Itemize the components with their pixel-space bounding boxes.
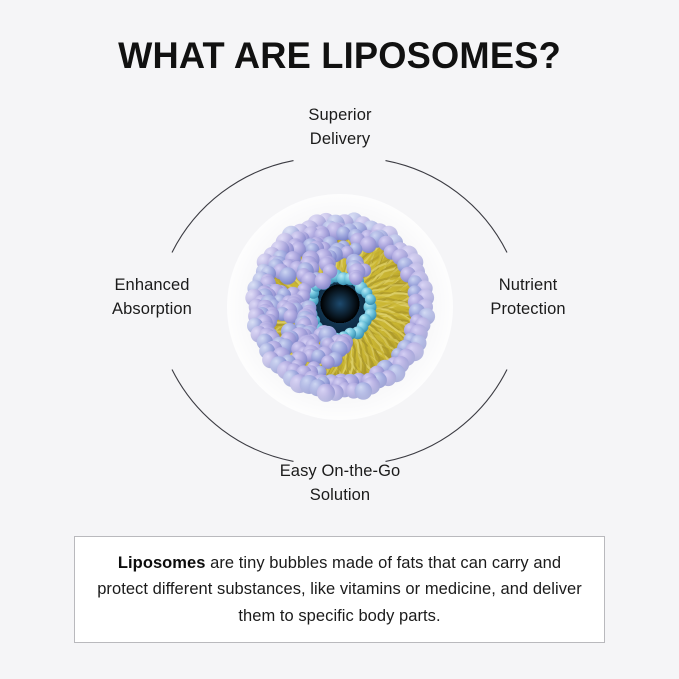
benefit-circle-diagram: Superior Delivery Nutrient Protection Ea… — [0, 96, 679, 526]
caption-text: Liposomes are tiny bubbles made of fats … — [75, 550, 604, 628]
caption-lead: Liposomes — [118, 554, 206, 572]
page-title: WHAT ARE LIPOSOMES? — [7, 36, 672, 77]
edge-vignette — [227, 194, 453, 420]
diagram-node-superior-delivery: Superior Delivery — [240, 104, 440, 152]
diagram-node-easy-on-the-go: Easy On-the-Go Solution — [240, 460, 440, 508]
diagram-node-nutrient-protection: Nutrient Protection — [428, 274, 628, 322]
liposome-infographic: WHAT ARE LIPOSOMES? — [0, 0, 679, 679]
liposome-illustration — [227, 194, 453, 420]
diagram-node-enhanced-absorption: Enhanced Absorption — [52, 274, 252, 322]
caption-box: Liposomes are tiny bubbles made of fats … — [74, 536, 605, 643]
